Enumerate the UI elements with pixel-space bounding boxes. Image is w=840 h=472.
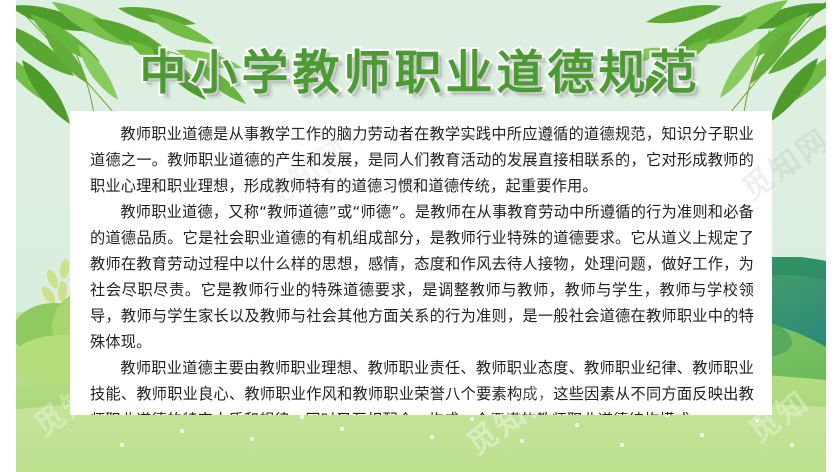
flower-dot <box>575 423 579 427</box>
flower-dot <box>340 427 344 431</box>
flower-dot <box>180 429 184 433</box>
content-card: 教师职业道德是从事教学工作的脑力劳动者在教学实践中所应遵循的道德规范，知识分子职… <box>70 111 772 415</box>
flower-dot <box>520 439 524 443</box>
page-margin-right <box>826 0 840 472</box>
flower-dot <box>120 443 124 447</box>
paragraph-1: 教师职业道德是从事教学工作的脑力劳动者在教学实践中所应遵循的道德规范，知识分子职… <box>90 121 754 199</box>
title-banner: 中小学教师职业道德规范 <box>0 34 840 103</box>
flower-dot <box>470 417 474 421</box>
flower-dot <box>430 435 434 439</box>
page-margin-left <box>0 0 16 472</box>
paragraph-3: 教师职业道德主要由教师职业理想、教师职业责任、教师职业态度、教师职业纪律、教师职… <box>90 355 754 415</box>
paragraph-2: 教师职业道德，又称“教师道德”或“师德”。是教师在从事教育劳动中所遵循的行为准则… <box>90 199 754 355</box>
flower-dot <box>755 419 759 423</box>
poster-canvas: 中小学教师职业道德规范 教师职业道德是从事教学工作的脑力劳动者在教学实践中所应遵… <box>0 0 840 472</box>
page-title: 中小学教师职业道德规范 <box>140 34 701 103</box>
flower-dot <box>700 433 704 437</box>
flower-dot <box>250 437 254 441</box>
flower-dot <box>790 443 794 447</box>
flower-dot <box>620 443 624 447</box>
flower-dot <box>300 415 304 419</box>
